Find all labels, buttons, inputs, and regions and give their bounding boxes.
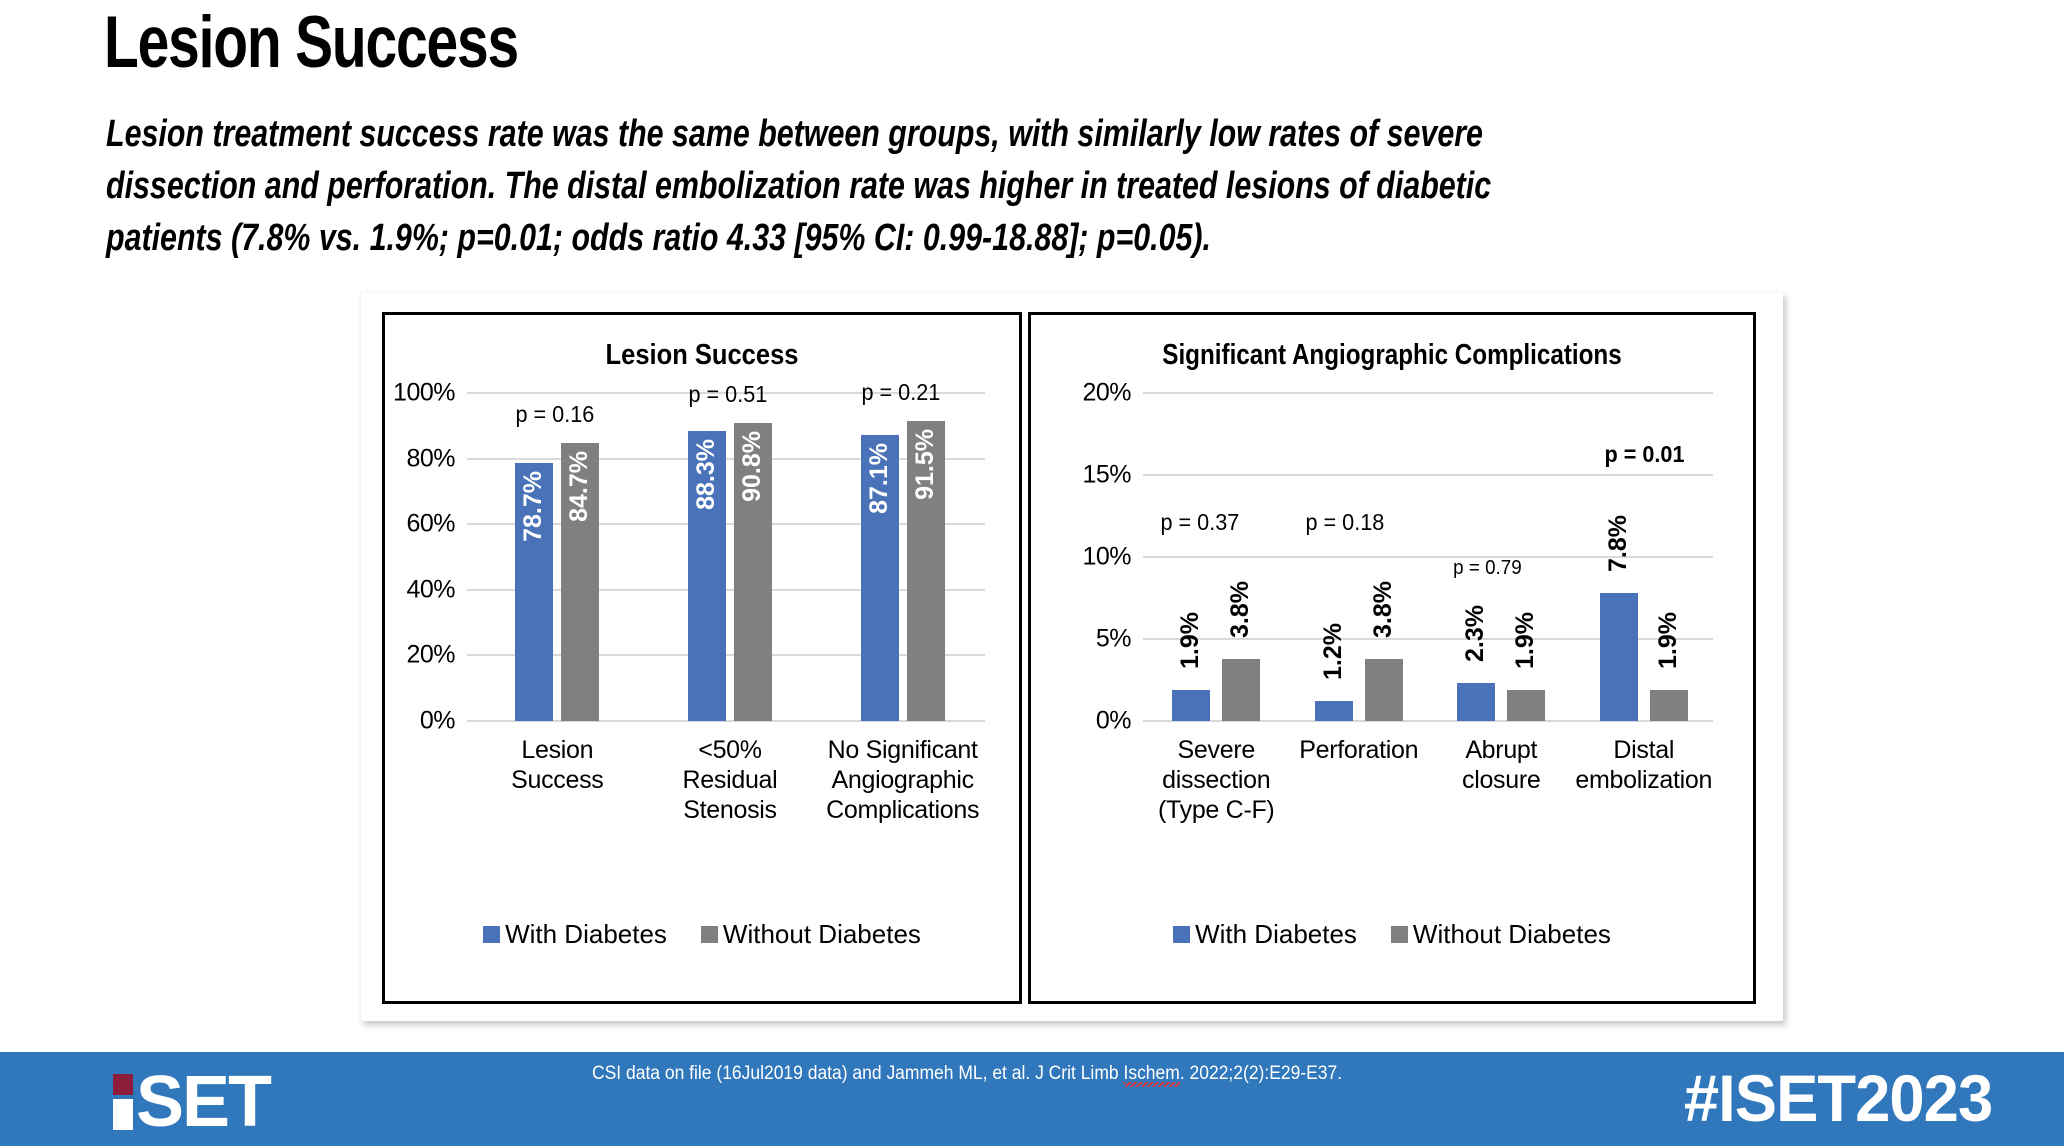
x-axis-category-label: <50%ResidualStenosis xyxy=(644,735,817,825)
x-axis-category-label: Distalembolization xyxy=(1573,735,1716,795)
p-value-annotation: p = 0.16 xyxy=(516,401,595,428)
y-axis-tick-label: 20% xyxy=(406,641,455,670)
legend-label-without: Without Diabetes xyxy=(1413,919,1611,950)
bar-with-diabetes xyxy=(1315,701,1353,721)
bar-value-label: 1.9% xyxy=(1178,612,1203,669)
y-axis-tick-label: 0% xyxy=(1096,707,1131,736)
x-axis-category-label: LesionSuccess xyxy=(471,735,644,795)
bar-value-label: 1.9% xyxy=(1513,612,1538,669)
y-axis-tick-label: 60% xyxy=(406,510,455,539)
y-axis-tick-label: 100% xyxy=(393,379,455,408)
bar-without-diabetes xyxy=(1507,690,1545,721)
p-value-annotation: p = 0.01 xyxy=(1604,441,1684,468)
legend-label-with: With Diabetes xyxy=(505,919,667,950)
category-label-line: Abrupt closure xyxy=(1430,735,1573,795)
plot-area-left: 0%20%40%60%80%100%78.7%84.7%p = 0.16Lesi… xyxy=(467,393,985,721)
y-axis-tick-label: 15% xyxy=(1082,461,1131,490)
bar-value-label: 87.1% xyxy=(867,443,892,514)
bar-value-label: 90.8% xyxy=(740,431,765,502)
category-label-line: <50% xyxy=(644,735,817,765)
category-label-line: Severe xyxy=(1145,735,1288,765)
bar-value-label: 91.5% xyxy=(913,429,938,500)
iset-logo: SET xyxy=(113,1070,270,1130)
category-label-line: Distal xyxy=(1573,735,1716,765)
plot-area-right: 0%5%10%15%20%1.9%3.8%p = 0.37Severedisse… xyxy=(1143,393,1713,721)
bar-value-label: 88.3% xyxy=(694,439,719,510)
citation-text: CSI data on file (16Jul2019 data) and Ja… xyxy=(592,1063,1328,1085)
chart-legend-left: With Diabetes Without Diabetes xyxy=(385,919,1019,950)
x-axis-category-label: Perforation xyxy=(1288,735,1431,765)
legend-entry-without-diabetes: Without Diabetes xyxy=(701,919,921,950)
category-label-line: Perforation xyxy=(1288,735,1431,765)
category-label-line: dissection xyxy=(1145,765,1288,795)
event-hashtag: #ISET2023 xyxy=(1684,1063,1992,1133)
iset-logo-stem-icon xyxy=(113,1099,133,1130)
bar-with-diabetes xyxy=(1457,683,1495,721)
citation-part-2: . 2022;2(2):E29-E37. xyxy=(1180,1063,1342,1084)
legend-swatch-icon-with xyxy=(483,926,500,943)
bar-value-label: 7.8% xyxy=(1606,515,1631,572)
category-label-line: Angiographic xyxy=(816,765,989,795)
category-label-line: embolization xyxy=(1573,765,1716,795)
bar-value-label: 84.7% xyxy=(567,451,592,522)
category-label-line: Lesion xyxy=(471,735,644,765)
chart-title: Significant Angiographic Complications xyxy=(1085,339,1699,372)
page-title: Lesion Success xyxy=(104,4,518,82)
y-axis-tick-label: 0% xyxy=(420,707,455,736)
iset-logo-text: SET xyxy=(136,1074,270,1130)
legend-entry-without-diabetes: Without Diabetes xyxy=(1391,919,1611,950)
legend-swatch-icon-without xyxy=(701,926,718,943)
y-axis-tick-label: 80% xyxy=(406,444,455,473)
p-value-annotation: p = 0.79 xyxy=(1453,557,1521,580)
legend-entry-with-diabetes: With Diabetes xyxy=(1173,919,1357,950)
citation-misspelled-word: Ischem xyxy=(1123,1063,1179,1087)
chart-panel-angiographic-complications: Significant Angiographic Complications 0… xyxy=(1028,312,1756,1004)
y-axis-tick-label: 40% xyxy=(406,575,455,604)
bar-value-label: 3.8% xyxy=(1228,581,1253,638)
bar-without-diabetes xyxy=(1650,690,1688,721)
x-axis-category-label: Severedissection(Type C-F) xyxy=(1145,735,1288,825)
legend-swatch-icon-without xyxy=(1391,926,1408,943)
y-axis-tick-label: 20% xyxy=(1082,379,1131,408)
y-axis-tick-label: 5% xyxy=(1096,625,1131,654)
iset-logo-dot-icon xyxy=(113,1074,133,1095)
legend-entry-with-diabetes: With Diabetes xyxy=(483,919,667,950)
gridline xyxy=(1143,474,1713,476)
category-label-line: Stenosis xyxy=(644,795,817,825)
citation-part-1: CSI data on file (16Jul2019 data) and Ja… xyxy=(592,1063,1123,1084)
bar-without-diabetes xyxy=(1365,659,1403,721)
legend-label-without: Without Diabetes xyxy=(723,919,921,950)
x-axis-category-label: No SignificantAngiographicComplications xyxy=(816,735,989,825)
chart-panel-lesion-success: Lesion Success 0%20%40%60%80%100%78.7%84… xyxy=(382,312,1022,1004)
y-axis-tick-label: 10% xyxy=(1082,543,1131,572)
bar-with-diabetes xyxy=(1600,593,1638,721)
p-value-annotation: p = 0.37 xyxy=(1161,509,1240,536)
chart-title: Lesion Success xyxy=(423,339,981,372)
bar-value-label: 1.9% xyxy=(1656,612,1681,669)
legend-swatch-icon-with xyxy=(1173,926,1190,943)
category-label-line: Success xyxy=(471,765,644,795)
bar-without-diabetes xyxy=(1222,659,1260,721)
p-value-annotation: p = 0.51 xyxy=(689,381,768,408)
chart-legend-right: With Diabetes Without Diabetes xyxy=(1031,919,1753,950)
legend-label-with: With Diabetes xyxy=(1195,919,1357,950)
bar-value-label: 1.2% xyxy=(1321,623,1346,680)
bar-value-label: 2.3% xyxy=(1463,605,1488,662)
iset-logo-i-icon xyxy=(113,1074,135,1130)
gridline xyxy=(1143,392,1713,394)
slide-subtitle: Lesion treatment success rate was the sa… xyxy=(106,108,1610,264)
category-label-line: No Significant xyxy=(816,735,989,765)
category-label-line: (Type C-F) xyxy=(1145,795,1288,825)
bar-with-diabetes xyxy=(1172,690,1210,721)
x-axis-category-label: Abrupt closure xyxy=(1430,735,1573,795)
p-value-annotation: p = 0.18 xyxy=(1305,509,1384,536)
bar-value-label: 3.8% xyxy=(1371,581,1396,638)
p-value-annotation: p = 0.21 xyxy=(861,379,940,406)
category-label-line: Complications xyxy=(816,795,989,825)
category-label-line: Residual xyxy=(644,765,817,795)
bar-value-label: 78.7% xyxy=(521,471,546,542)
